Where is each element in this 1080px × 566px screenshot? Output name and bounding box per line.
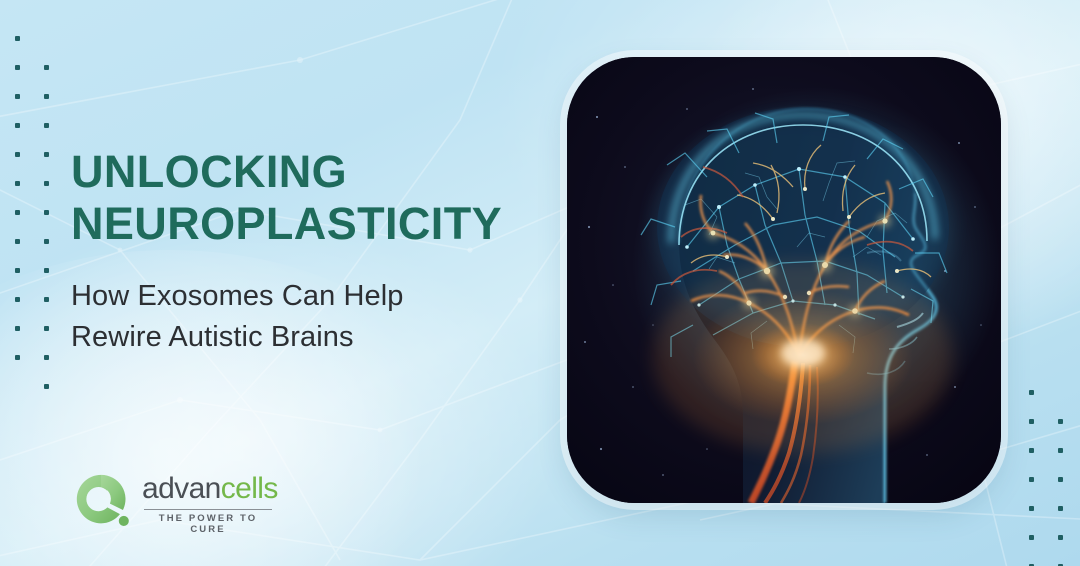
brand-logo[interactable]: advancells THE POWER TO CURE — [71, 470, 278, 535]
advancells-droplet-icon — [71, 472, 133, 534]
logo-wordmark: advancells — [142, 474, 278, 504]
headline-line-2: Neuroplasticity — [71, 198, 502, 250]
logo-word-advan: advan — [142, 472, 221, 505]
decorative-dots-left-column-a — [15, 36, 20, 360]
subhead-line-1: How Exosomes Can Help — [71, 276, 404, 317]
decorative-dots-right-column-a — [1029, 390, 1034, 566]
decorative-dots-right-column-b — [1058, 419, 1063, 566]
decorative-dots-left-column-b — [44, 65, 49, 389]
subhead-line-2: Rewire Autistic Brains — [71, 317, 404, 358]
logo-tagline: THE POWER TO CURE — [144, 513, 272, 535]
logo-divider — [144, 509, 272, 510]
promotional-banner: Unlocking Neuroplasticity How Exosomes C… — [0, 0, 1080, 566]
logo-word-cells: cells — [221, 472, 278, 505]
text-column: Unlocking Neuroplasticity How Exosomes C… — [71, 0, 541, 566]
logo-wordmark-block: advancells THE POWER TO CURE — [142, 470, 278, 535]
page-title: Unlocking Neuroplasticity — [71, 146, 502, 250]
brain-neural-network-illustration — [567, 57, 1001, 503]
page-subtitle: How Exosomes Can Help Rewire Autistic Br… — [71, 276, 404, 358]
headline-line-1: Unlocking — [71, 146, 502, 198]
hero-image-card — [567, 57, 1001, 503]
